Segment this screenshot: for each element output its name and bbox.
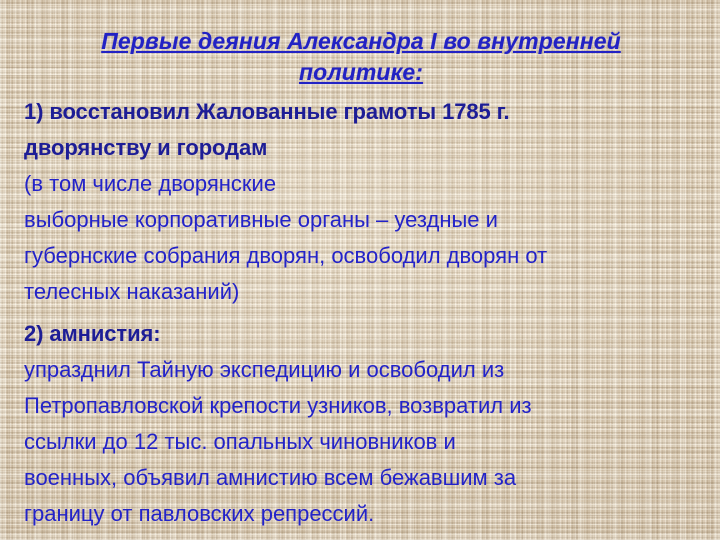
- body-line: 1) восстановил Жалованные грамоты 1785 г…: [24, 94, 698, 130]
- body-line: границу от павловских репрессий.: [24, 496, 698, 532]
- body-line: упразднил Тайную экспедицию и освободил …: [24, 352, 698, 388]
- body-line: ссылки до 12 тыс. опальных чиновников и: [24, 424, 698, 460]
- body-line: губернские собрания дворян, освободил дв…: [24, 238, 698, 274]
- body-line: военных, объявил амнистию всем бежавшим …: [24, 460, 698, 496]
- body-line: дворянству и городам: [24, 130, 698, 166]
- presentation-slide: Первые деяния Александра I во внутренней…: [0, 0, 720, 540]
- body-line: 2) амнистия:: [24, 316, 698, 352]
- body-line: телесных наказаний): [24, 274, 698, 310]
- body-line: (в том числе дворянские: [24, 166, 698, 202]
- slide-title: Первые деяния Александра I во внутренней…: [24, 26, 698, 88]
- slide-content: Первые деяния Александра I во внутренней…: [0, 0, 720, 540]
- slide-title-line-2: политике:: [299, 59, 423, 85]
- slide-body: 1) восстановил Жалованные грамоты 1785 г…: [24, 94, 698, 532]
- body-line: Петропавловской крепости узников, возвра…: [24, 388, 698, 424]
- body-line: выборные корпоративные органы – уездные …: [24, 202, 698, 238]
- slide-title-line-1: Первые деяния Александра I во внутренней: [101, 28, 621, 54]
